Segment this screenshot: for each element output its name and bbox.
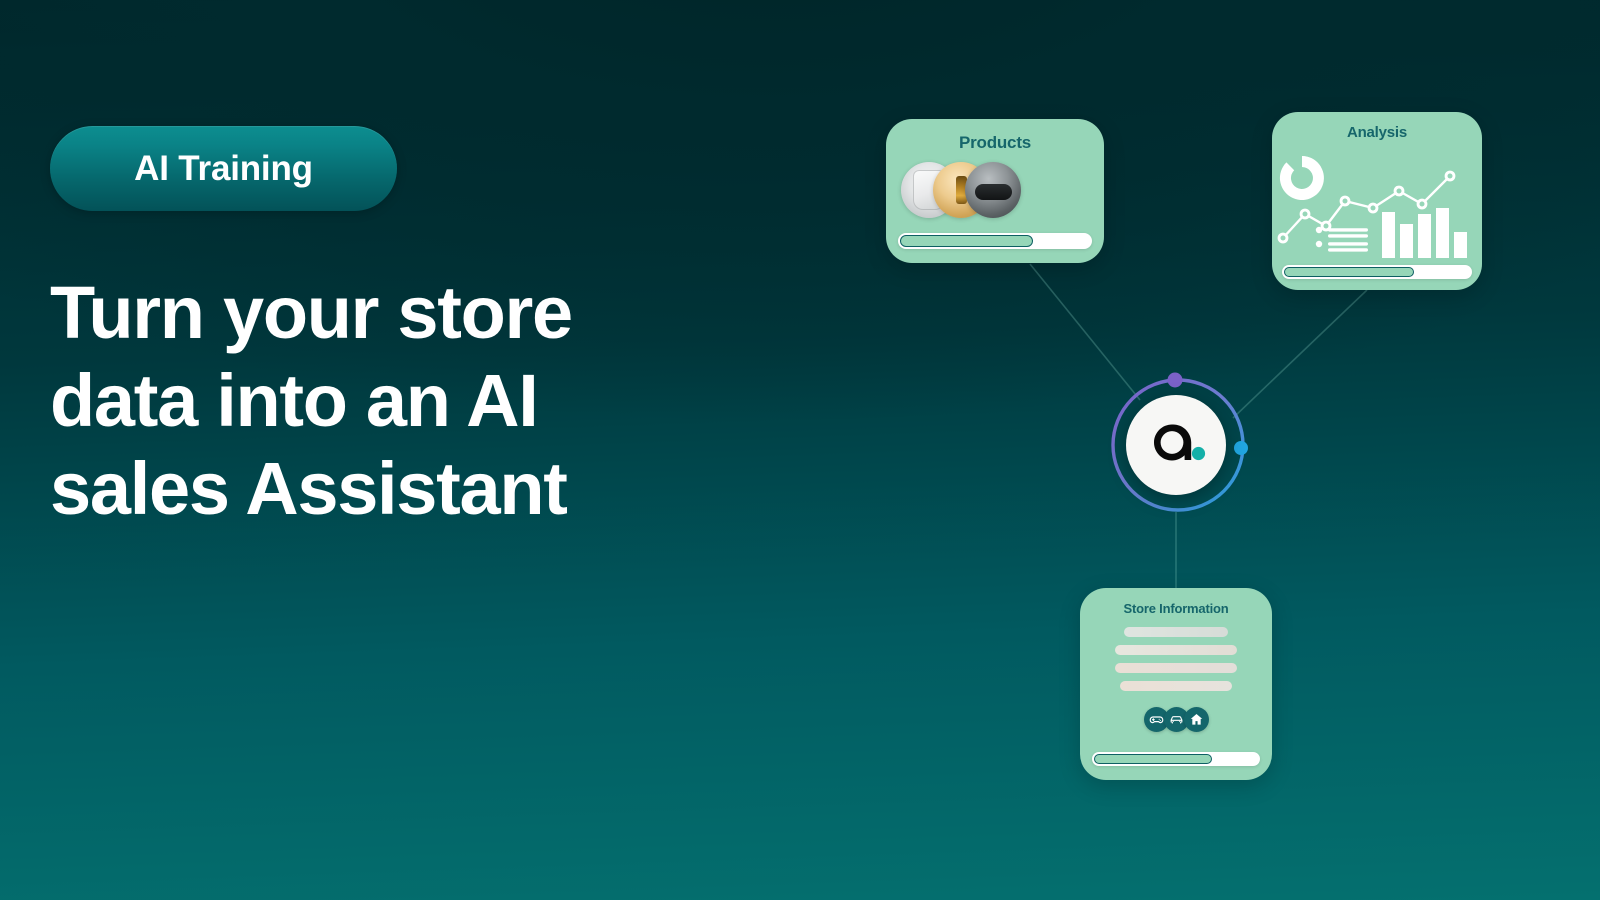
assistant-logo-icon — [1126, 395, 1226, 495]
products-progress-fill — [900, 235, 1033, 247]
logo-accent-dot — [1192, 447, 1205, 460]
product-thumbnail-group — [886, 162, 1104, 218]
skeleton-line — [1115, 663, 1237, 673]
bar-chart-icon — [1382, 208, 1467, 258]
purple-orbit-dot — [1168, 373, 1183, 388]
sunglasses-thumbnail — [965, 162, 1021, 218]
skeleton-line — [1124, 627, 1228, 637]
products-progress-bar — [898, 233, 1092, 249]
products-card[interactable]: Products — [886, 119, 1104, 263]
analysis-progress-bar — [1282, 265, 1472, 279]
analysis-card-title: Analysis — [1272, 124, 1482, 141]
store-progress-bar — [1092, 752, 1260, 766]
products-card-title: Products — [886, 133, 1104, 153]
donut-chart-icon — [1280, 156, 1324, 200]
hero-section: AI Training Turn your store data into an… — [0, 0, 1600, 900]
analysis-card[interactable]: Analysis — [1272, 112, 1482, 290]
center-node[interactable] — [1110, 379, 1242, 511]
analysis-progress-fill — [1284, 267, 1414, 277]
skeleton-line — [1115, 645, 1237, 655]
analysis-artwork — [1272, 146, 1482, 258]
store-category-icons — [1080, 707, 1272, 732]
store-progress-fill — [1094, 754, 1212, 764]
blue-orbit-dot — [1234, 441, 1248, 455]
skeleton-line — [1120, 681, 1232, 691]
store-information-card-title: Store Information — [1080, 601, 1272, 616]
store-information-card[interactable]: Store Information — [1080, 588, 1272, 780]
home-icon — [1184, 707, 1209, 732]
